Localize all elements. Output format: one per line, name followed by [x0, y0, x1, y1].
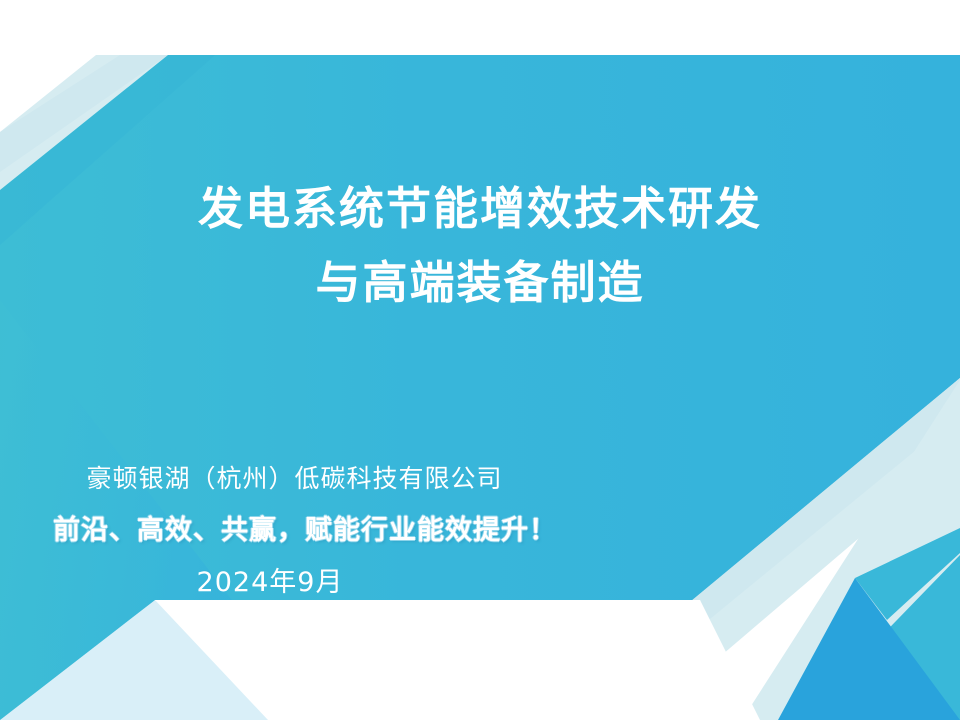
date-text: 2024年9月 — [0, 564, 540, 602]
title-slide: 发电系统节能增效技术研发 与高端装备制造 豪顿银湖（杭州）低碳科技有限公司 前沿… — [0, 0, 960, 720]
page-title: 发电系统节能增效技术研发 与高端装备制造 — [0, 172, 960, 320]
slogan-text: 前沿、高效、共赢，赋能行业能效提升！ — [0, 512, 610, 550]
title-line-1: 发电系统节能增效技术研发 — [0, 172, 960, 246]
title-line-2: 与高端装备制造 — [0, 246, 960, 320]
slide-text-layer: 发电系统节能增效技术研发 与高端装备制造 豪顿银湖（杭州）低碳科技有限公司 前沿… — [0, 0, 960, 720]
organization-name: 豪顿银湖（杭州）低碳科技有限公司 — [0, 462, 589, 496]
